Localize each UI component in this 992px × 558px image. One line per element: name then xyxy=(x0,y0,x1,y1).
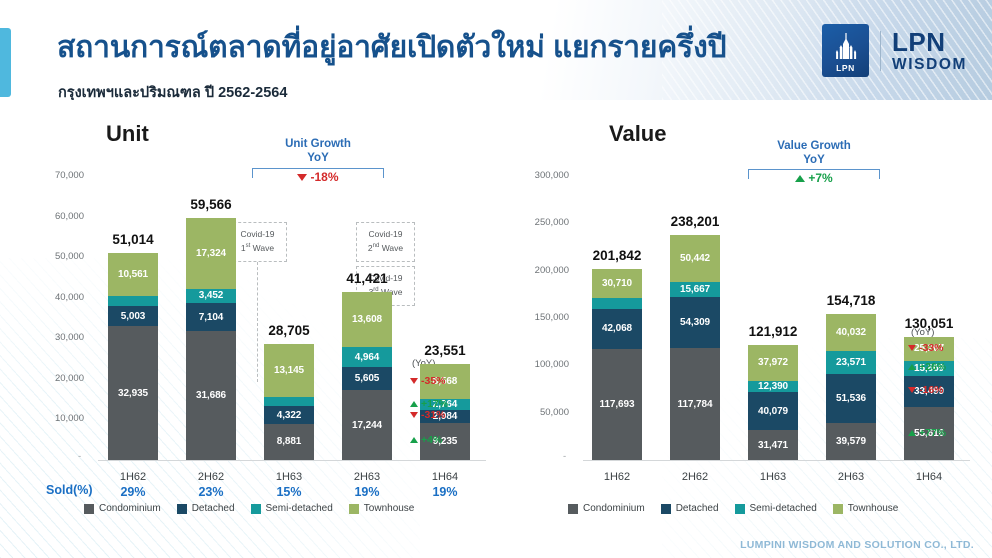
value-category-label-1H62: 1H62 xyxy=(580,471,654,483)
value-segment-detached[interactable]: 42,068 xyxy=(592,309,642,349)
legend-swatch-icon xyxy=(349,504,359,514)
sold-percent-2H62: 23% xyxy=(174,485,248,499)
unit-yoy-row: +17% xyxy=(410,398,448,410)
value-chart-legend: CondominiumDetachedSemi-detachedTownhous… xyxy=(568,503,898,514)
unit-segment-detached[interactable]: 5,605 xyxy=(342,367,392,390)
segment-value-label: 5,605 xyxy=(355,373,380,384)
segment-value-label: 13,608 xyxy=(352,314,382,325)
legend-swatch-icon xyxy=(251,504,261,514)
unit-axis-tick-label: 20,000 xyxy=(32,373,84,384)
unit-legend-item[interactable]: Townhouse xyxy=(349,503,415,514)
legend-swatch-icon xyxy=(568,504,578,514)
value-category-label-1H64: 1H64 xyxy=(892,471,966,483)
value-segment-detached[interactable]: 40,079 xyxy=(748,392,798,430)
unit-yoy-row: +4% xyxy=(410,434,442,446)
value-category-label-2H63: 2H63 xyxy=(814,471,888,483)
unit-growth-title-line2: YoY xyxy=(307,152,329,164)
yoy-value-label: +4% xyxy=(421,434,442,446)
triangle-up-icon xyxy=(908,430,916,436)
value-category-label-2H62: 2H62 xyxy=(658,471,732,483)
legend-swatch-icon xyxy=(735,504,745,514)
unit-legend-item[interactable]: Detached xyxy=(177,503,235,514)
value-legend-item[interactable]: Condominium xyxy=(568,503,645,514)
legend-label: Semi-detached xyxy=(266,503,333,514)
segment-value-label: 40,032 xyxy=(836,327,866,338)
unit-growth-value-text: -18% xyxy=(310,170,338,184)
unit-category-label-1H62: 1H62 xyxy=(96,471,170,483)
unit-axis-baseline xyxy=(98,460,486,461)
segment-value-label: 4,322 xyxy=(277,410,302,421)
logo-mark-label: LPN xyxy=(836,63,855,73)
segment-value-label: 17,324 xyxy=(196,248,226,259)
unit-bar-total-2H62: 59,566 xyxy=(174,197,248,212)
value-axis-baseline xyxy=(583,460,970,461)
segment-value-label: 40,079 xyxy=(758,406,788,417)
unit-bar-total-2H63: 41,421 xyxy=(330,271,404,286)
value-bar-total-1H63: 121,912 xyxy=(736,324,810,339)
segment-value-label: 5,003 xyxy=(121,311,146,322)
unit-category-label-1H63: 1H63 xyxy=(252,471,326,483)
value-segment-townhouse[interactable]: 37,972 xyxy=(748,345,798,381)
unit-bar-2H62[interactable]: 31,6867,1043,45217,324 xyxy=(186,218,236,460)
covid1-line2: 1st Wave xyxy=(241,242,274,256)
segment-value-label: 12,390 xyxy=(758,381,788,392)
yoy-value-label: +26% xyxy=(919,361,946,373)
value-axis-tick-label: 300,000 xyxy=(517,170,569,181)
value-yoy-row: -16% xyxy=(908,384,944,396)
value-bar-1H64[interactable]: 55,61633,49915,66925,267 xyxy=(904,337,954,460)
segment-value-label: 17,244 xyxy=(352,420,382,431)
triangle-down-icon xyxy=(908,387,916,393)
value-yoy-row: -33% xyxy=(908,342,944,354)
unit-segment-detached[interactable]: 5,003 xyxy=(108,306,158,326)
covid2-line2: 2nd Wave xyxy=(368,242,403,256)
triangle-up-icon xyxy=(410,437,418,443)
triangle-down-icon xyxy=(410,412,418,418)
unit-axis-tick-label: 60,000 xyxy=(32,211,84,222)
unit-segment-detached[interactable]: 4,322 xyxy=(264,406,314,424)
value-legend-item[interactable]: Detached xyxy=(661,503,719,514)
value-axis-tick-label: 50,000 xyxy=(517,407,569,418)
segment-value-label: 8,881 xyxy=(277,436,302,447)
value-segment-semi-detached[interactable]: 15,667 xyxy=(670,282,720,297)
legend-label: Townhouse xyxy=(364,503,415,514)
legend-label: Condominium xyxy=(99,503,161,514)
unit-category-label-2H62: 2H62 xyxy=(174,471,248,483)
value-bar-total-1H62: 201,842 xyxy=(580,248,654,263)
unit-yoy-row: -31% xyxy=(410,409,446,421)
unit-bar-total-1H62: 51,014 xyxy=(96,232,170,247)
covid-19-second-wave-annotation: Covid-19 2nd Wave xyxy=(356,222,415,262)
value-segment-semi-detached[interactable]: 12,390 xyxy=(748,381,798,393)
triangle-up-icon xyxy=(908,364,916,370)
unit-growth-title: Unit Growth YoY xyxy=(262,137,374,166)
legend-label: Detached xyxy=(676,503,719,514)
value-segment-condominium[interactable]: 39,579 xyxy=(826,423,876,460)
segment-value-label: 23,571 xyxy=(836,357,866,368)
unit-segment-townhouse[interactable]: 10,561 xyxy=(108,253,158,296)
value-yoy-row: +26% xyxy=(908,361,946,373)
segment-value-label: 7,104 xyxy=(199,312,224,323)
segment-value-label: 3,452 xyxy=(199,290,224,301)
value-segment-condominium[interactable]: 31,471 xyxy=(748,430,798,460)
value-legend-item[interactable]: Townhouse xyxy=(833,503,899,514)
value-segment-semi-detached[interactable]: 11,372 xyxy=(592,298,642,309)
unit-chart-legend: CondominiumDetachedSemi-detachedTownhous… xyxy=(84,503,414,514)
unit-bar-1H62[interactable]: 32,9355,0032,51510,561 xyxy=(108,253,158,460)
yoy-value-label: -31% xyxy=(421,409,446,421)
unit-segment-condominium[interactable]: 31,686 xyxy=(186,331,236,460)
legend-label: Semi-detached xyxy=(750,503,817,514)
value-bar-1H63[interactable]: 31,47140,07912,39037,972 xyxy=(748,345,798,460)
yoy-value-label: +17% xyxy=(421,398,448,410)
value-segment-semi-detached[interactable]: 23,571 xyxy=(826,351,876,373)
legend-swatch-icon xyxy=(177,504,187,514)
unit-yoy-row: -35% xyxy=(410,375,446,387)
value-axis-tick-label: 200,000 xyxy=(517,265,569,276)
yoy-value-label: -16% xyxy=(919,384,944,396)
segment-value-label: 10,561 xyxy=(118,269,148,280)
segment-value-label: 117,784 xyxy=(678,399,713,410)
segment-value-label: 15,667 xyxy=(680,284,710,295)
legend-swatch-icon xyxy=(661,504,671,514)
value-chart-title: Value xyxy=(609,121,666,147)
covid1-line1: Covid-19 xyxy=(240,228,274,242)
segment-value-label: 117,693 xyxy=(600,399,635,410)
lpn-wisdom-logo: LPN LPN WISDOM xyxy=(822,24,967,77)
triangle-down-icon xyxy=(410,378,418,384)
segment-value-label: 39,579 xyxy=(836,436,866,447)
unit-growth-value: -18% xyxy=(262,170,374,184)
value-segment-detached[interactable]: 54,309 xyxy=(670,297,720,348)
unit-bar-total-1H63: 28,705 xyxy=(252,323,326,338)
triangle-down-icon xyxy=(908,345,916,351)
tower-icon xyxy=(833,32,859,60)
unit-axis-tick-label: 50,000 xyxy=(32,251,84,262)
logo-divider xyxy=(880,31,881,71)
value-segment-condominium[interactable]: 117,693 xyxy=(592,349,642,460)
unit-segment-townhouse[interactable]: 13,145 xyxy=(264,344,314,397)
unit-category-label-2H63: 2H63 xyxy=(330,471,404,483)
legend-label: Detached xyxy=(192,503,235,514)
value-segment-detached[interactable]: 51,536 xyxy=(826,374,876,423)
unit-legend-item[interactable]: Condominium xyxy=(84,503,161,514)
yoy-value-label: -35% xyxy=(421,375,446,387)
value-segment-condominium[interactable]: 117,784 xyxy=(670,348,720,460)
unit-growth-title-line1: Unit Growth xyxy=(285,138,351,150)
triangle-up-icon xyxy=(795,175,805,182)
value-segment-townhouse[interactable]: 30,710 xyxy=(592,269,642,298)
sold-percent-1H62: 29% xyxy=(96,485,170,499)
segment-value-label: 51,536 xyxy=(836,393,866,404)
value-growth-title: Value Growth YoY xyxy=(758,139,870,168)
yoy-value-label: +77% xyxy=(919,427,946,439)
unit-axis-zero-label: - xyxy=(78,451,81,462)
unit-bar-2H63[interactable]: 17,2445,6054,96413,608 xyxy=(342,292,392,460)
lpn-logo-mark: LPN xyxy=(822,24,869,77)
segment-value-label: 42,068 xyxy=(602,323,632,334)
unit-segment-townhouse[interactable]: 13,608 xyxy=(342,292,392,347)
unit-segment-condominium[interactable]: 8,881 xyxy=(264,424,314,460)
unit-segment-semi-detached[interactable]: 2,357 xyxy=(264,397,314,407)
legend-swatch-icon xyxy=(833,504,843,514)
unit-bar-total-1H64: 23,551 xyxy=(408,343,482,358)
covid2-line1: Covid-19 xyxy=(368,228,402,242)
sold-percent-title: Sold(%) xyxy=(46,483,93,497)
page-title: สถานการณ์ตลาดที่อยู่อาศัยเปิดตัวใหม่ แยก… xyxy=(57,24,726,71)
value-bar-2H63[interactable]: 39,57951,53623,57140,032 xyxy=(826,314,876,460)
page-subtitle: กรุงเทพฯและปริมณฑล ปี 2562-2564 xyxy=(58,81,287,100)
segment-value-label: 31,471 xyxy=(758,440,788,451)
value-axis-tick-label: 150,000 xyxy=(517,312,569,323)
unit-chart-title: Unit xyxy=(106,121,149,147)
legend-swatch-icon xyxy=(84,504,94,514)
unit-segment-condominium[interactable]: 32,935 xyxy=(108,326,158,460)
value-bar-total-2H63: 154,718 xyxy=(814,293,888,308)
legend-label: Townhouse xyxy=(848,503,899,514)
value-growth-value: +7% xyxy=(758,171,870,185)
legend-label: Condominium xyxy=(583,503,645,514)
value-axis-zero-label: - xyxy=(563,451,566,462)
value-segment-townhouse[interactable]: 50,442 xyxy=(670,235,720,283)
unit-bar-1H63[interactable]: 8,8814,3222,35713,145 xyxy=(264,344,314,460)
accent-bar xyxy=(0,28,11,97)
covid-19-first-wave-annotation: Covid-19 1st Wave xyxy=(228,222,287,262)
logo-subname: WISDOM xyxy=(892,57,967,73)
value-growth-title-line2: YoY xyxy=(803,154,825,166)
page-header: สถานการณ์ตลาดที่อยู่อาศัยเปิดตัวใหม่ แยก… xyxy=(0,0,992,100)
value-growth-value-text: +7% xyxy=(808,171,832,185)
unit-segment-semi-detached[interactable]: 2,515 xyxy=(108,296,158,306)
segment-value-label: 30,710 xyxy=(602,278,632,289)
unit-legend-item[interactable]: Semi-detached xyxy=(251,503,333,514)
unit-segment-semi-detached[interactable]: 4,964 xyxy=(342,347,392,367)
unit-segment-detached[interactable]: 7,104 xyxy=(186,303,236,332)
segment-value-label: 4,964 xyxy=(355,352,380,363)
triangle-up-icon xyxy=(410,401,418,407)
value-growth-title-line1: Value Growth xyxy=(777,140,851,152)
segment-value-label: 50,442 xyxy=(680,253,710,264)
sold-percent-1H63: 15% xyxy=(252,485,326,499)
unit-axis-tick-label: 10,000 xyxy=(32,413,84,424)
triangle-down-icon xyxy=(297,174,307,181)
logo-name: LPN xyxy=(892,29,967,55)
unit-axis-tick-label: 40,000 xyxy=(32,292,84,303)
value-legend-item[interactable]: Semi-detached xyxy=(735,503,817,514)
unit-axis-tick-label: 70,000 xyxy=(32,170,84,181)
segment-value-label: 37,972 xyxy=(758,357,788,368)
unit-segment-townhouse[interactable]: 17,324 xyxy=(186,218,236,288)
value-segment-townhouse[interactable]: 40,032 xyxy=(826,314,876,352)
unit-segment-condominium[interactable]: 17,244 xyxy=(342,390,392,460)
value-bar-total-1H64: 130,051 xyxy=(892,316,966,331)
value-bar-total-2H62: 238,201 xyxy=(658,214,732,229)
value-yoy-row: +77% xyxy=(908,427,946,439)
value-category-label-1H63: 1H63 xyxy=(736,471,810,483)
sold-percent-1H64: 19% xyxy=(408,485,482,499)
company-footer: LUMPINI WISDOM AND SOLUTION CO., LTD. xyxy=(740,539,974,551)
unit-category-label-1H64: 1H64 xyxy=(408,471,482,483)
value-bar-2H62[interactable]: 117,78454,30915,66750,442 xyxy=(670,235,720,460)
segment-value-label: 31,686 xyxy=(196,390,226,401)
value-bar-1H62[interactable]: 117,69342,06811,37230,710 xyxy=(592,269,642,460)
segment-value-label: 54,309 xyxy=(680,317,710,328)
value-axis-tick-label: 250,000 xyxy=(517,217,569,228)
sold-percent-2H63: 19% xyxy=(330,485,404,499)
value-axis-tick-label: 100,000 xyxy=(517,359,569,370)
yoy-value-label: -33% xyxy=(919,342,944,354)
unit-axis-tick-label: 30,000 xyxy=(32,332,84,343)
unit-segment-semi-detached[interactable]: 3,452 xyxy=(186,289,236,303)
segment-value-label: 32,935 xyxy=(118,388,148,399)
segment-value-label: 13,145 xyxy=(274,365,304,376)
